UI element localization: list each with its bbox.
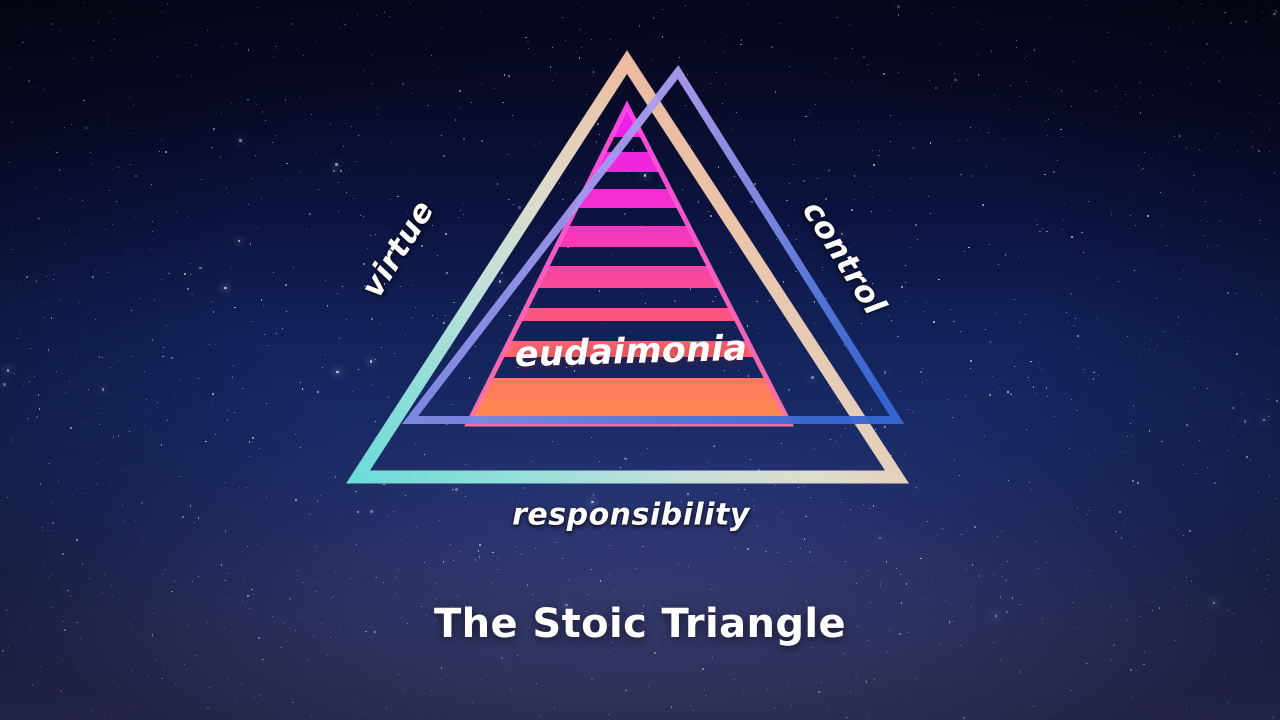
striped-gradient-pyramid	[468, 106, 790, 424]
edge-label-responsibility: responsibility	[512, 498, 750, 533]
slide-canvas: virtue control responsibility eudaimonia…	[0, 0, 1280, 720]
page-title: The Stoic Triangle	[0, 601, 1280, 647]
center-label-eudaimonia: eudaimonia	[514, 329, 747, 375]
